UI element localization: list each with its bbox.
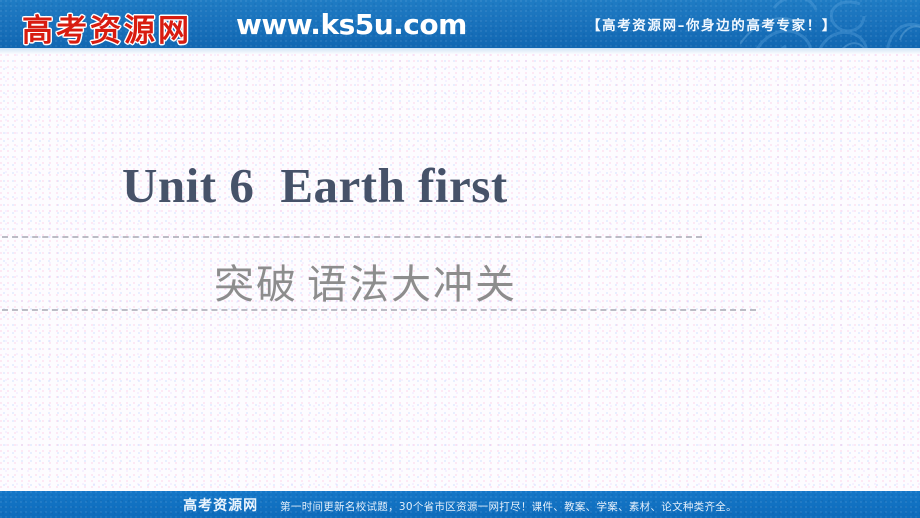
divider-below-subtitle: [2, 309, 756, 311]
page-title-topic: Earth first: [280, 158, 507, 213]
slide-canvas: 高考资源网 www.ks5u.com 【高考资源网–你身边的高考专家！】 Uni…: [0, 0, 920, 518]
header-banner: 高考资源网 www.ks5u.com 【高考资源网–你身边的高考专家！】: [0, 0, 920, 48]
page-title-unit: Unit 6: [122, 158, 254, 213]
page-subtitle-body: 语法大冲关: [307, 262, 517, 308]
page-subtitle: 突破语法大冲关: [214, 252, 517, 310]
divider-above-subtitle: [2, 236, 702, 238]
page-title: Unit 6Earth first: [122, 157, 508, 214]
header-underline-gradient: [0, 48, 920, 54]
page-subtitle-lead: 突破: [214, 262, 298, 308]
footer-tagline: 第一时间更新名校试题，30个省市区资源一网打尽！课件、教案、学案、素材、论文种类…: [280, 499, 737, 514]
footer-banner: 高考资源网 第一时间更新名校试题，30个省市区资源一网打尽！课件、教案、学案、素…: [0, 491, 920, 518]
footer-brand: 高考资源网: [183, 495, 258, 515]
site-logo-text: 高考资源网: [22, 5, 192, 48]
site-url-text[interactable]: www.ks5u.com: [236, 8, 467, 41]
footer-content: 高考资源网 第一时间更新名校试题，30个省市区资源一网打尽！课件、教案、学案、素…: [183, 495, 737, 515]
site-tagline: 【高考资源网–你身边的高考专家！】: [587, 14, 837, 34]
